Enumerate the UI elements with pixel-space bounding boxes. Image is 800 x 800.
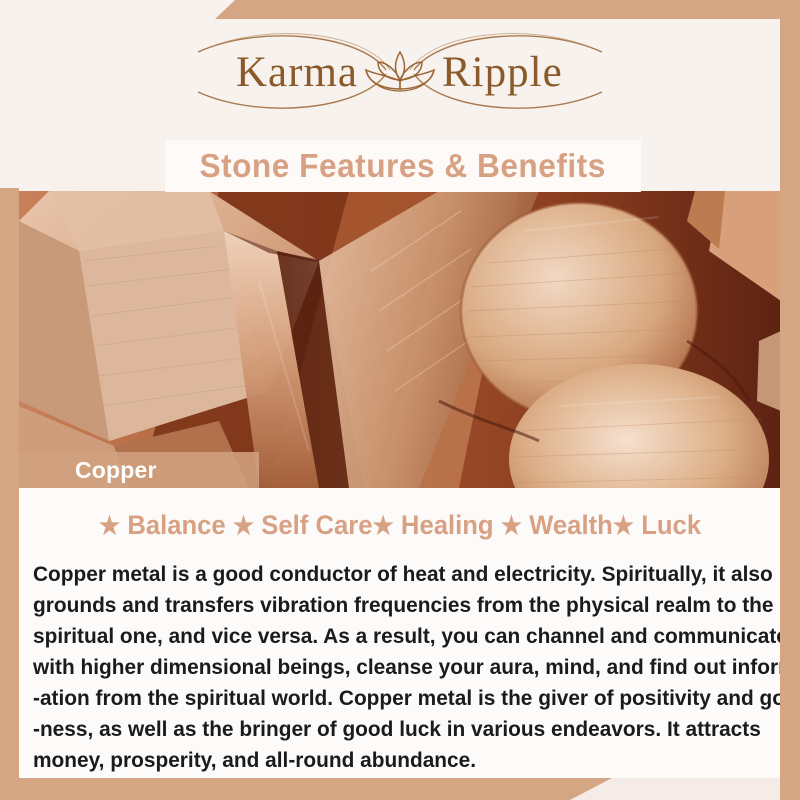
copper-bars-photo: [19, 191, 781, 488]
content-panel: ★ Balance ★ Self Care★ Healing ★ Wealth★…: [19, 488, 781, 778]
description-line: Copper metal is a good conductor of heat…: [33, 559, 749, 590]
feature-item-self-care: Self Care: [261, 510, 372, 540]
feature-item-healing: Healing: [401, 510, 494, 540]
lotus-icon: [366, 52, 434, 91]
feature-item-wealth: Wealth: [529, 510, 613, 540]
feature-item-luck: Luck: [641, 510, 701, 540]
brand-logo: Karma Ripple: [0, 26, 800, 118]
hero-caption: Copper: [75, 457, 157, 484]
star-icon: ★: [501, 512, 522, 540]
feature-item-balance: Balance: [127, 510, 225, 540]
infographic-card: Karma Ripple Stone Features & Benefits: [0, 0, 800, 800]
frame-right: [780, 0, 800, 800]
description-text: Copper metal is a good conductor of heat…: [33, 559, 749, 776]
header: Karma Ripple: [0, 0, 800, 140]
brand-name-right: Ripple: [442, 49, 563, 96]
description-line: -ation from the spiritual world. Copper …: [33, 683, 749, 714]
description-line: with higher dimensional beings, cleanse …: [33, 652, 749, 683]
features-list: ★ Balance ★ Self Care★ Healing ★ Wealth★…: [38, 510, 762, 541]
frame-left: [0, 188, 19, 800]
hero-image: [19, 191, 781, 488]
section-title: Stone Features & Benefits: [200, 147, 606, 185]
brand-name-left: Karma: [236, 49, 358, 96]
description-line: money, prosperity, and all-round abundan…: [33, 745, 749, 776]
star-icon: ★: [233, 512, 254, 540]
description-line: -ness, as well as the bringer of good lu…: [33, 714, 749, 745]
star-icon: ★: [613, 512, 634, 540]
frame-bottom: [0, 778, 612, 800]
star-icon: ★: [372, 512, 393, 540]
section-title-panel: Stone Features & Benefits: [165, 140, 641, 192]
description-line: grounds and transfers vibration frequenc…: [33, 590, 749, 621]
description-line: spiritual one, and vice versa. As a resu…: [33, 621, 749, 652]
logo-artwork: Karma Ripple: [190, 26, 610, 118]
hero-caption-bar: Copper: [19, 452, 259, 488]
star-icon: ★: [99, 512, 120, 540]
frame-top: [215, 0, 800, 19]
